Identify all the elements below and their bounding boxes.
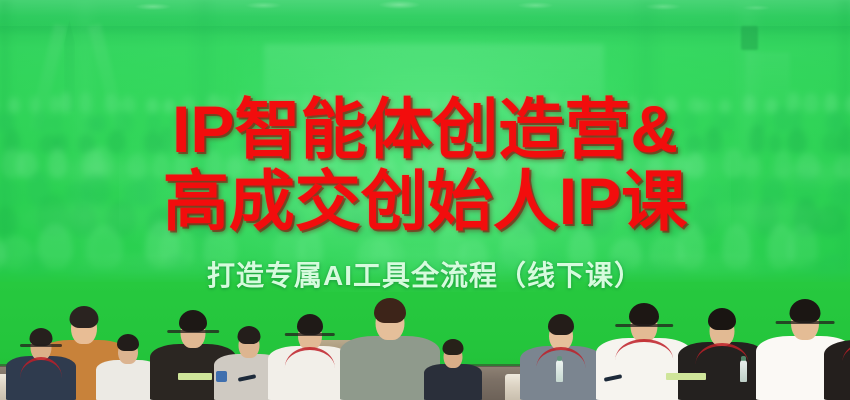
participant-hair [374, 298, 406, 323]
participant-hair [179, 310, 207, 332]
cup-left [216, 371, 227, 382]
notepad-right [666, 373, 706, 380]
poster-text-block: IP智能体创造营& 高成交创始人IP课 打造专属AI工具全流程（线下课） [0, 96, 850, 294]
participant-hair [548, 314, 574, 335]
participant-hair [708, 308, 736, 330]
participant-woman-black-tee [678, 311, 766, 400]
participant-person-back-mid [424, 339, 482, 400]
eyeglasses-icon [167, 330, 219, 333]
participant-hair [443, 339, 464, 355]
poster-title-line-1: IP智能体创造营& [0, 96, 850, 162]
participant-man-dark-left [6, 329, 76, 400]
poster-subtitle: 打造专属AI工具全流程（线下课） [0, 254, 850, 294]
participant-hair [238, 326, 261, 344]
eyeglasses-icon [20, 344, 62, 347]
participant-hair [297, 314, 323, 335]
participant-hair [117, 334, 139, 351]
eyeglasses-icon [615, 324, 673, 327]
event-poster-banner: IP智能体创造营& 高成交创始人IP课 打造专属AI工具全流程（线下课） [0, 0, 850, 400]
eyeglasses-icon [285, 333, 335, 336]
participant-hair [70, 306, 99, 328]
participant-hair [790, 299, 821, 323]
participant-hair [629, 303, 659, 326]
water-bottle-1 [556, 360, 563, 382]
participant-torso [424, 364, 482, 400]
foreground-classroom-photo [0, 282, 850, 400]
participant-torso [824, 340, 850, 400]
notepad-left [178, 373, 212, 380]
poster-title-line-2: 高成交创始人IP课 [0, 168, 850, 234]
participant-man-black-polo [824, 308, 850, 400]
water-bottle-2 [740, 360, 747, 382]
